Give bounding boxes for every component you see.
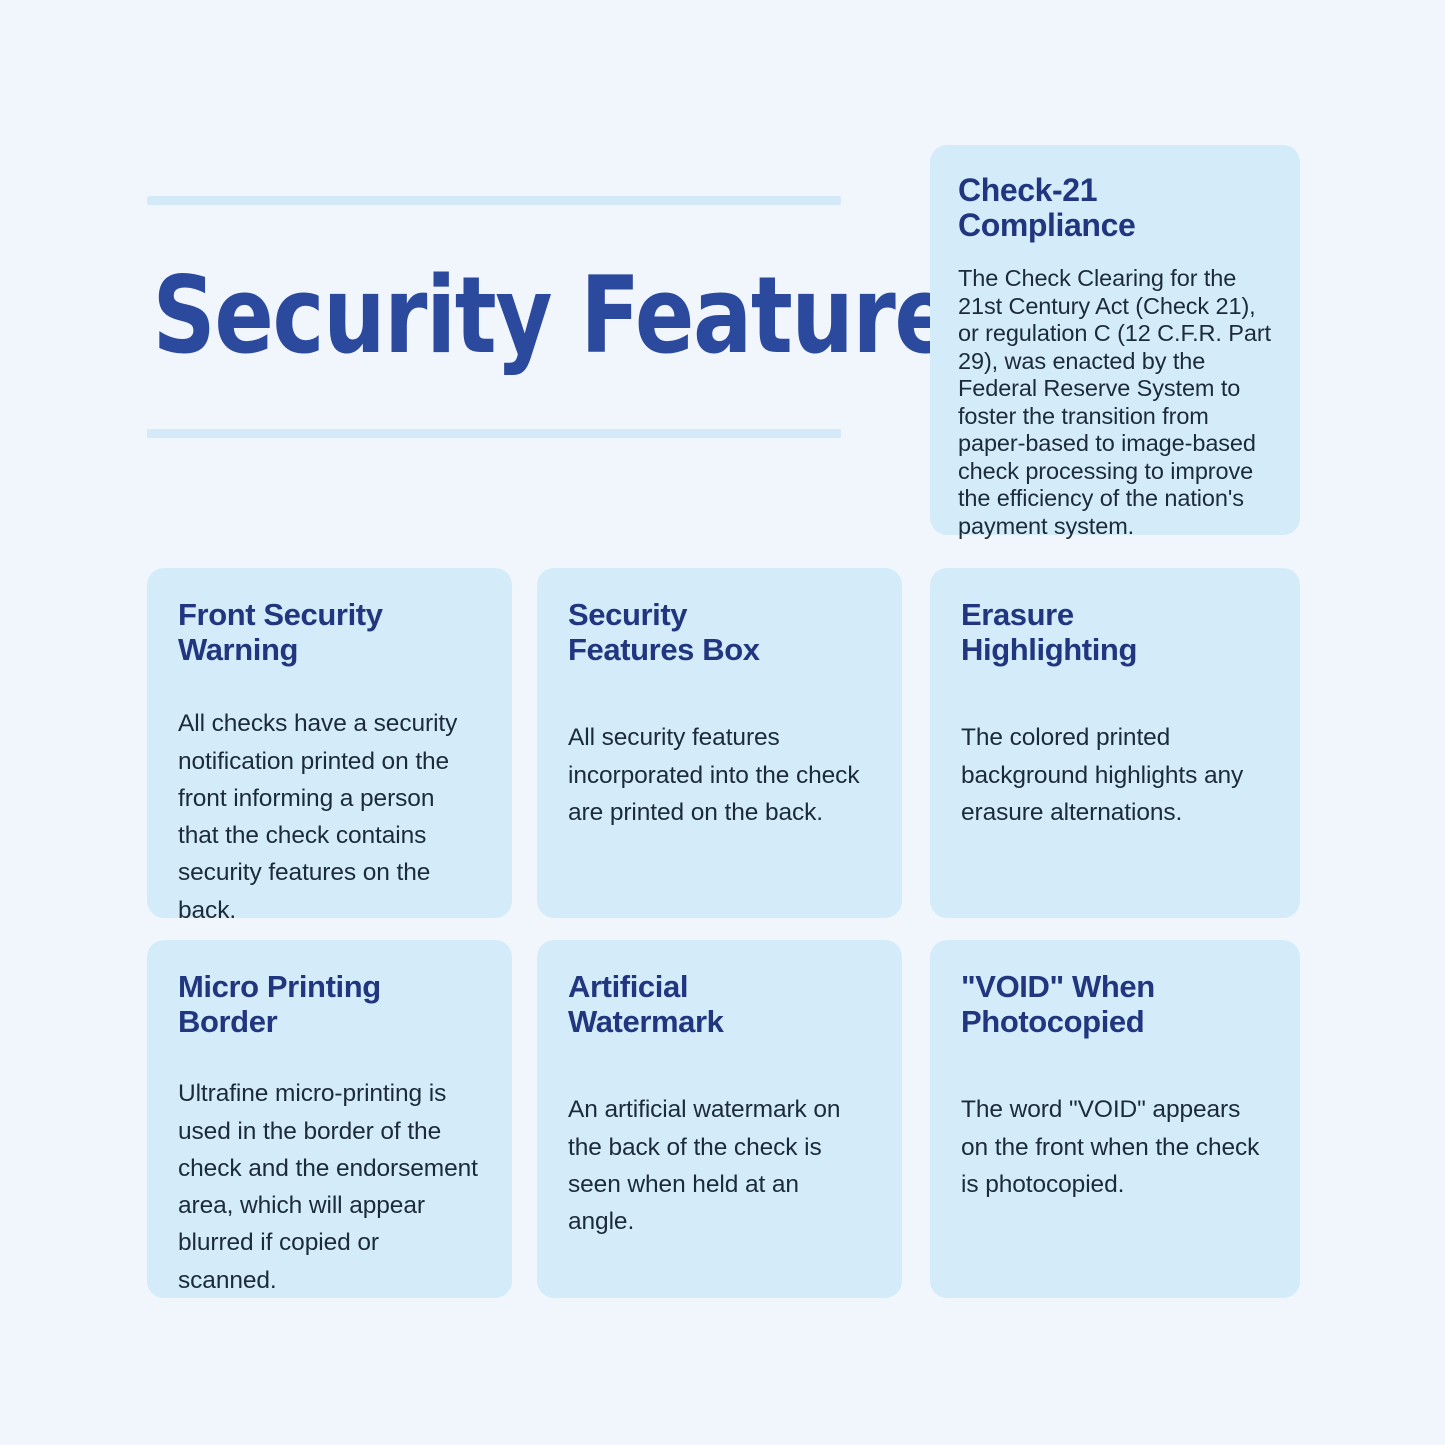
title-rule-top (147, 196, 841, 205)
card-heading: Check-21 Compliance (958, 173, 1272, 243)
card-body: An artificial watermark on the back of t… (568, 1091, 871, 1240)
title-block: Security Features (147, 196, 841, 438)
card-micro-printing-border: Micro Printing Border Ultrafine micro-pr… (147, 940, 512, 1298)
card-heading: Front Security Warning (178, 598, 481, 667)
card-security-features-box: Security Features Box All security featu… (537, 568, 902, 918)
title-rule-bottom (147, 429, 841, 438)
card-artificial-watermark: Artificial Watermark An artificial water… (537, 940, 902, 1298)
card-erasure-highlighting: Erasure Highlighting The colored printed… (930, 568, 1300, 918)
card-heading: Micro Printing Border (178, 970, 481, 1039)
card-body: The Check Clearing for the 21st Century … (958, 265, 1272, 540)
card-body: The word "VOID" appears on the front whe… (961, 1091, 1269, 1203)
card-body: All security features incorporated into … (568, 719, 871, 831)
card-front-security-warning: Front Security Warning All checks have a… (147, 568, 512, 918)
card-body: Ultrafine micro-printing is used in the … (178, 1075, 481, 1298)
card-heading: Security Features Box (568, 598, 871, 667)
infographic-page: Security Features Check-21 Compliance Th… (0, 0, 1445, 1445)
card-body: The colored printed background highlight… (961, 719, 1269, 831)
card-heading: Erasure Highlighting (961, 598, 1269, 667)
card-heading: Artificial Watermark (568, 970, 871, 1039)
card-body: All checks have a security notification … (178, 705, 481, 928)
card-void-when-photocopied: "VOID" When Photocopied The word "VOID" … (930, 940, 1300, 1298)
card-heading: "VOID" When Photocopied (961, 970, 1269, 1039)
page-title: Security Features (147, 205, 785, 429)
card-check-21-compliance: Check-21 Compliance The Check Clearing f… (930, 145, 1300, 535)
